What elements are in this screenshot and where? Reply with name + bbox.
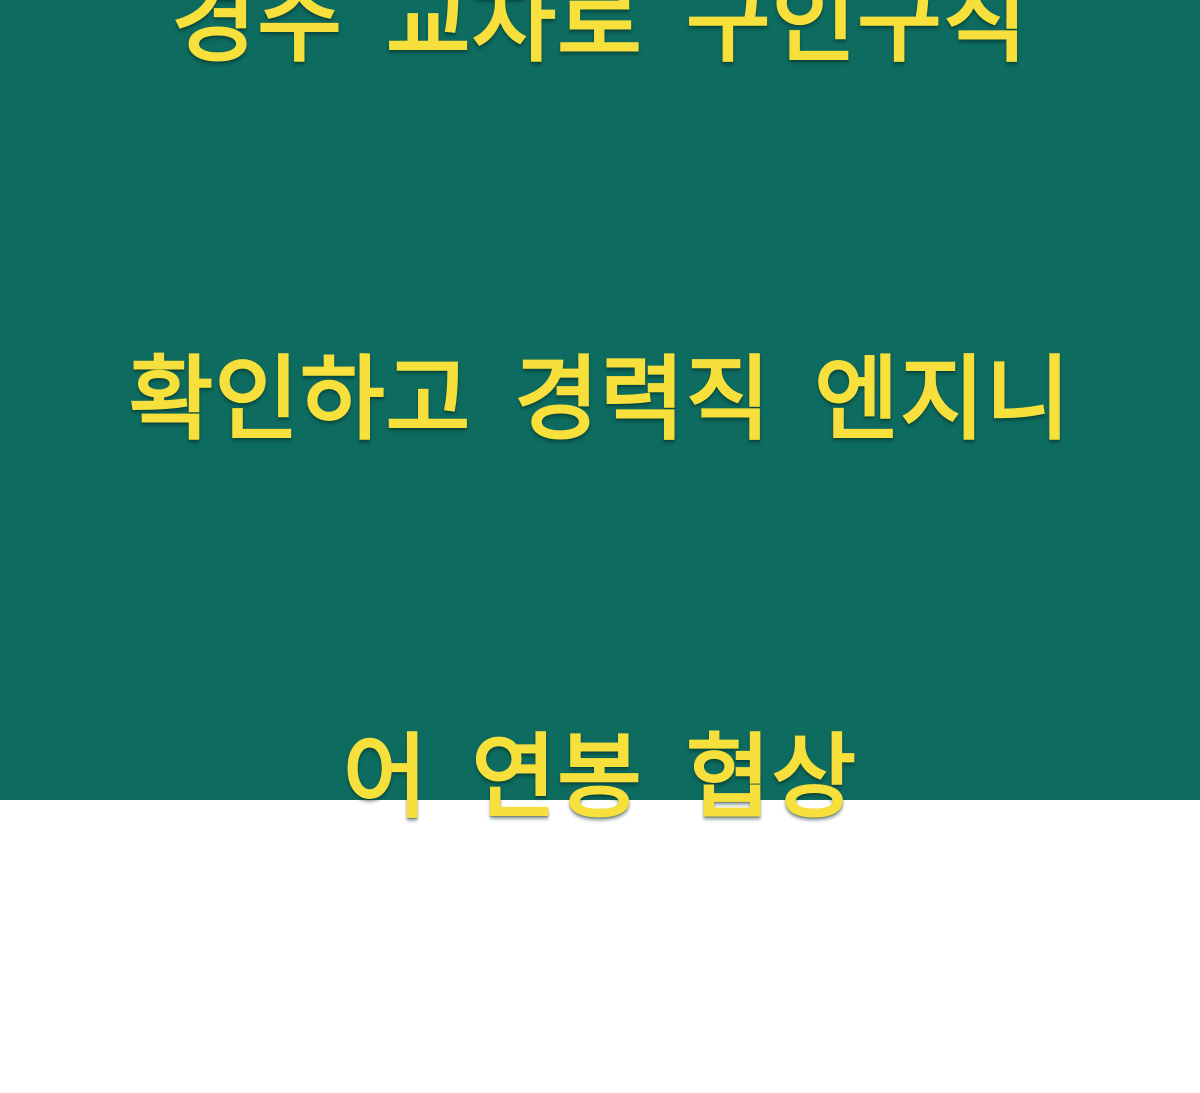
headline: 경주 교차로 구인구직 확인하고 경력직 엔지니 어 연봉 협상 (70, 0, 1130, 1093)
headline-line-1: 경주 교차로 구인구직 (70, 0, 1130, 85)
text-card: 경주 교차로 구인구직 확인하고 경력직 엔지니 어 연봉 협상 (0, 0, 1200, 800)
headline-line-3: 어 연봉 협상 (70, 715, 1130, 841)
headline-line-2: 확인하고 경력직 엔지니 (70, 337, 1130, 463)
